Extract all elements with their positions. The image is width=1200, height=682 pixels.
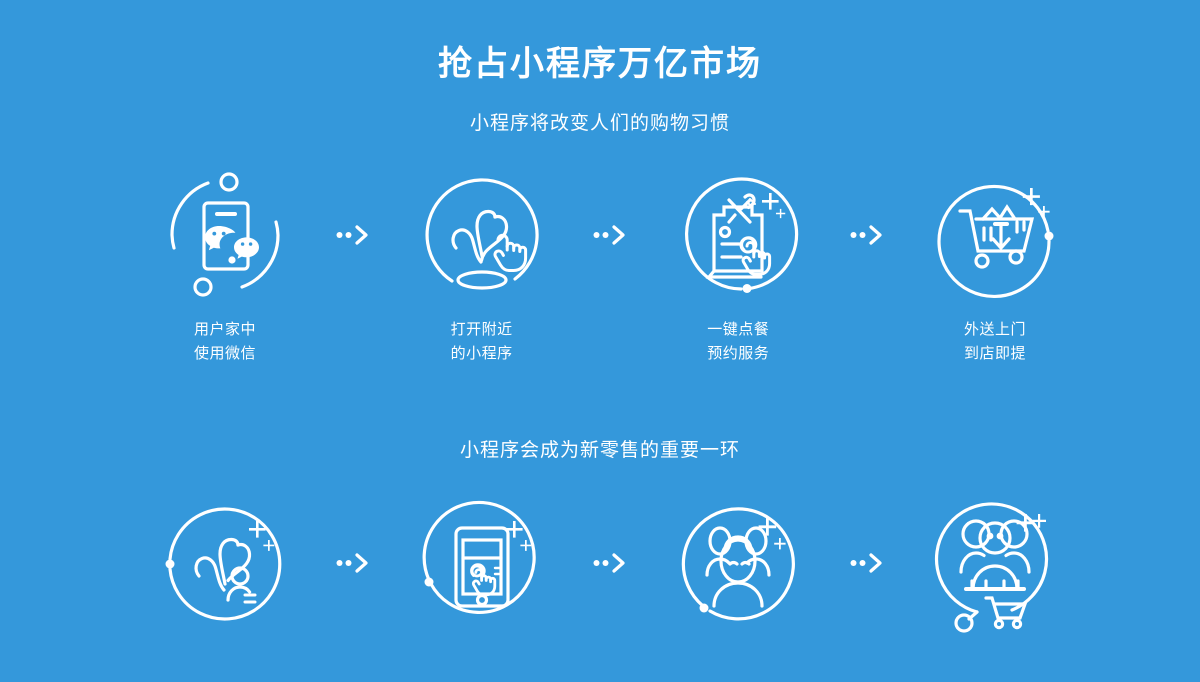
arrow-right-icon: [326, 488, 380, 638]
menu-order-tap-icon: [663, 160, 813, 310]
section-1-subtitle: 小程序将改变人们的购物习惯: [0, 110, 1200, 138]
miniprogram-tap-icon: [407, 160, 557, 310]
arrow-right-icon: [840, 488, 894, 638]
flow-step-label: 打开附近 的小程序: [451, 318, 513, 366]
flow-step-1-4[interactable]: 外送上门 到店即提: [910, 160, 1080, 366]
flow-step-2-4[interactable]: [910, 488, 1080, 646]
arrow-right-icon: [583, 160, 637, 310]
people-group-icon: [663, 488, 813, 638]
people-cart-icon: [920, 488, 1070, 638]
flow-step-1-2[interactable]: 打开附近 的小程序: [397, 160, 567, 366]
flow-step-label: 用户家中 使用微信: [194, 318, 256, 366]
arrow-right-icon: [840, 160, 894, 310]
flow-step-2-3[interactable]: [653, 488, 823, 646]
section-2-subtitle: 小程序会成为新零售的重要一环: [0, 437, 1200, 465]
flow-step-label: 外送上门 到店即提: [964, 318, 1026, 366]
flow-row-2: [140, 488, 1080, 646]
flow-row-1: 用户家中 使用微信: [140, 160, 1080, 366]
page-title: 抢占小程序万亿市场: [0, 42, 1200, 86]
phone-wechat-icon: [150, 160, 300, 310]
flow-step-2-1[interactable]: [140, 488, 310, 646]
flow-step-2-2[interactable]: [397, 488, 567, 646]
flow-step-1-3[interactable]: 一键点餐 预约服务: [653, 160, 823, 366]
shopping-cart-delivery-icon: [920, 160, 1070, 310]
flow-step-1-1[interactable]: 用户家中 使用微信: [140, 160, 310, 366]
slide-canvas: 抢占小程序万亿市场 小程序将改变人们的购物习惯: [0, 0, 1200, 682]
arrow-right-icon: [326, 160, 380, 310]
flow-step-label: 一键点餐 预约服务: [707, 318, 769, 366]
arrow-right-icon: [583, 488, 637, 638]
miniprogram-user-icon: [150, 488, 300, 638]
phone-tap-icon: [407, 488, 557, 638]
